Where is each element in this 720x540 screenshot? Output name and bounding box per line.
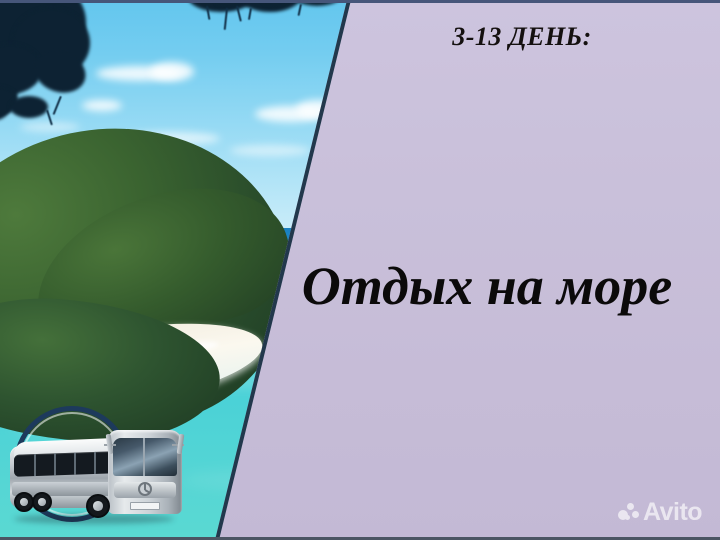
bus-windshield-split <box>143 438 145 476</box>
avito-dots-icon <box>618 502 639 523</box>
advertisement-banner: 3-13 ДЕНЬ: Отдых на море Avito <box>0 0 720 540</box>
pine-branch-icon <box>10 96 48 118</box>
cloud <box>150 62 194 81</box>
bus-license-plate <box>130 502 160 510</box>
avito-watermark: Avito <box>618 500 702 525</box>
bus-wheel <box>14 492 34 512</box>
cloud <box>82 100 122 111</box>
bus-side-windows <box>14 451 114 476</box>
frame-top-border <box>0 0 720 3</box>
bus-windshield <box>113 438 177 476</box>
avito-brand-label: Avito <box>643 500 702 525</box>
cloud <box>230 145 310 156</box>
tour-bus-badge <box>4 398 194 538</box>
bus-wheel <box>32 492 52 512</box>
headline-text: Отдых на море <box>262 258 712 315</box>
bus-icon <box>8 420 188 528</box>
day-range-label: 3-13 ДЕНЬ: <box>352 22 692 52</box>
bus-wheel <box>86 494 110 518</box>
mercedes-star-icon <box>138 482 152 496</box>
